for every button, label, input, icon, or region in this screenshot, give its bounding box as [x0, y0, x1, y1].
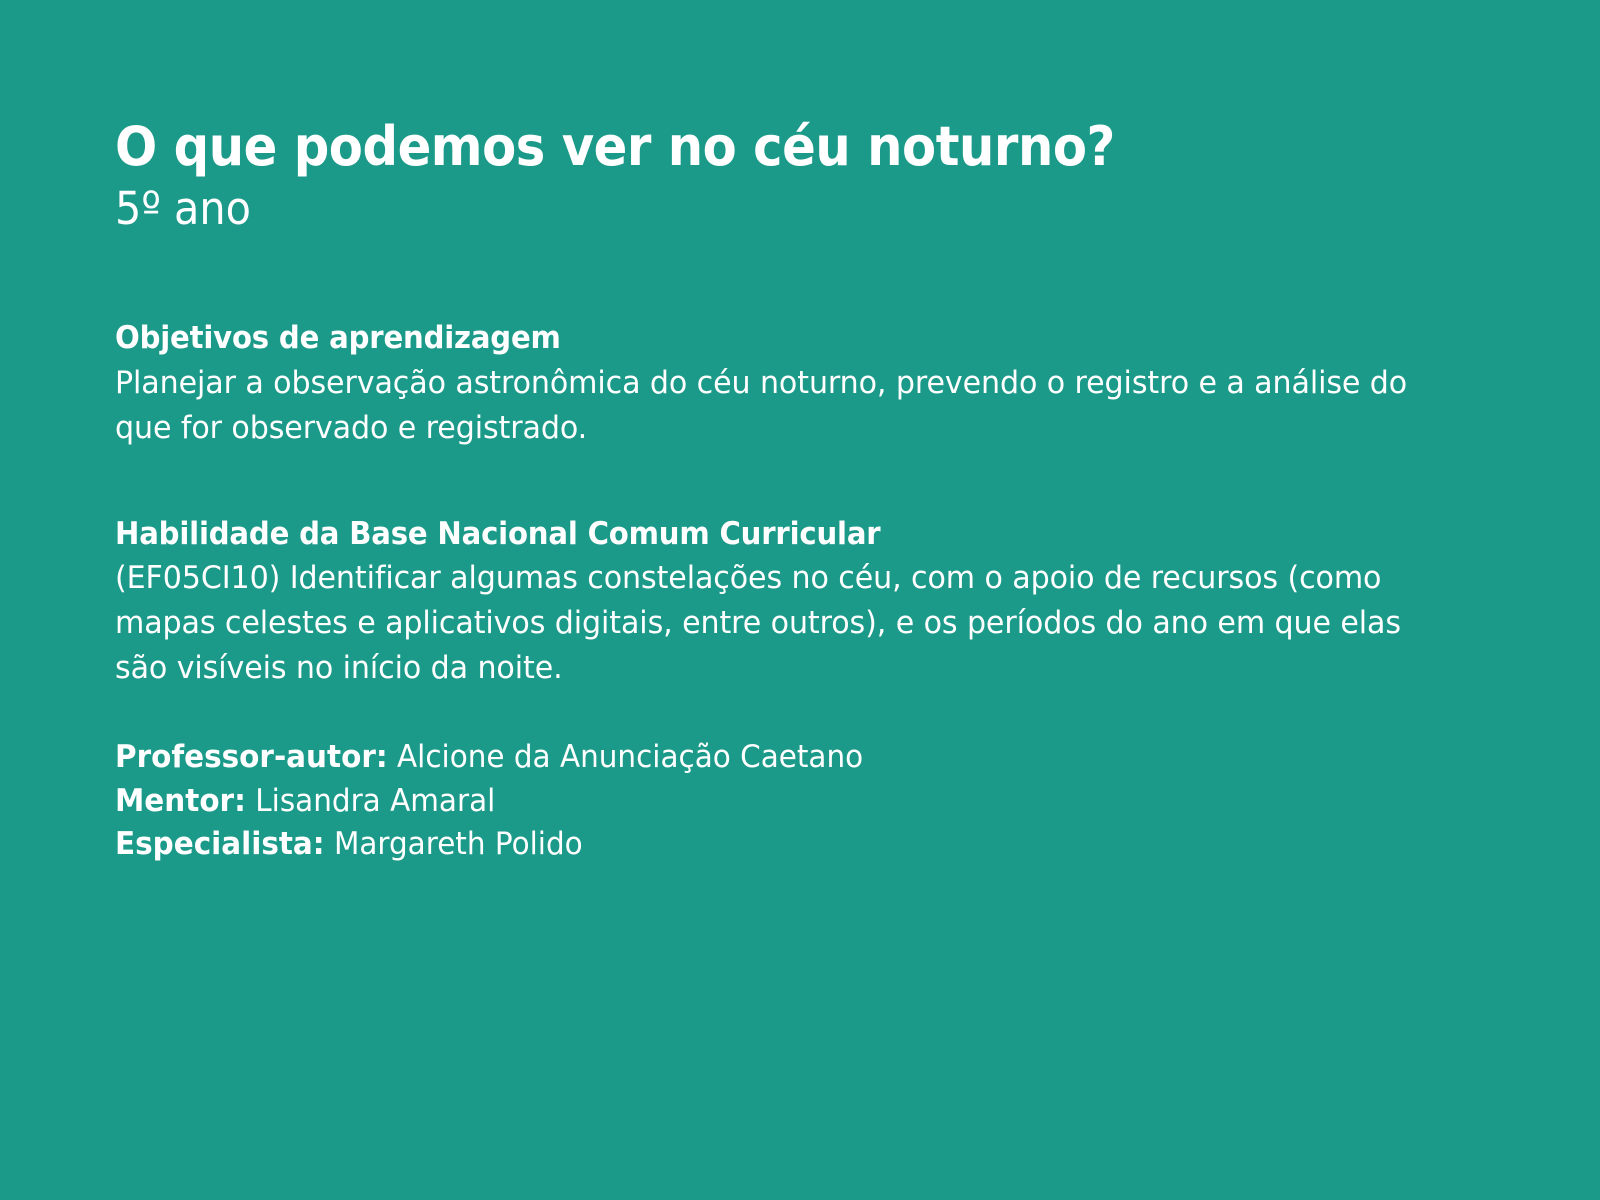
- section-body: (EF05CI10) Identificar algumas constelaç…: [115, 556, 1444, 690]
- credit-line-mentor: Mentor: Lisandra Amaral: [115, 780, 1379, 823]
- section-objetivos-de-aprendizagem: Objetivos de aprendizagem Planejar a obs…: [115, 319, 1445, 450]
- credits-block: Professor-autor: Alcione da Anunciação C…: [115, 736, 1379, 866]
- credit-line-professor-autor: Professor-autor: Alcione da Anunciação C…: [115, 736, 1379, 779]
- credit-label: Professor-autor:: [115, 739, 388, 775]
- section-heading: Habilidade da Base Nacional Comum Curric…: [115, 515, 1365, 555]
- credit-value: Margareth Polido: [334, 826, 583, 862]
- credit-value: Lisandra Amaral: [255, 783, 495, 819]
- title-block: O que podemos ver no céu noturno? 5º ano: [115, 118, 1445, 237]
- credit-line-especialista: Especialista: Margareth Polido: [115, 823, 1379, 866]
- section-heading: Objetivos de aprendizagem: [115, 319, 1365, 359]
- slide-root: O que podemos ver no céu noturno? 5º ano…: [0, 0, 1600, 1200]
- section-body: Planejar a observação astronômica do céu…: [115, 361, 1444, 450]
- section-habilidade-bncc: Habilidade da Base Nacional Comum Curric…: [115, 515, 1445, 691]
- credit-label: Especialista:: [115, 826, 325, 862]
- credit-value: Alcione da Anunciação Caetano: [397, 739, 863, 775]
- page-subtitle: 5º ano: [115, 181, 1339, 237]
- page-title: O que podemos ver no céu noturno?: [115, 118, 1339, 175]
- slide-content: O que podemos ver no céu noturno? 5º ano…: [115, 118, 1445, 867]
- credit-label: Mentor:: [115, 783, 246, 819]
